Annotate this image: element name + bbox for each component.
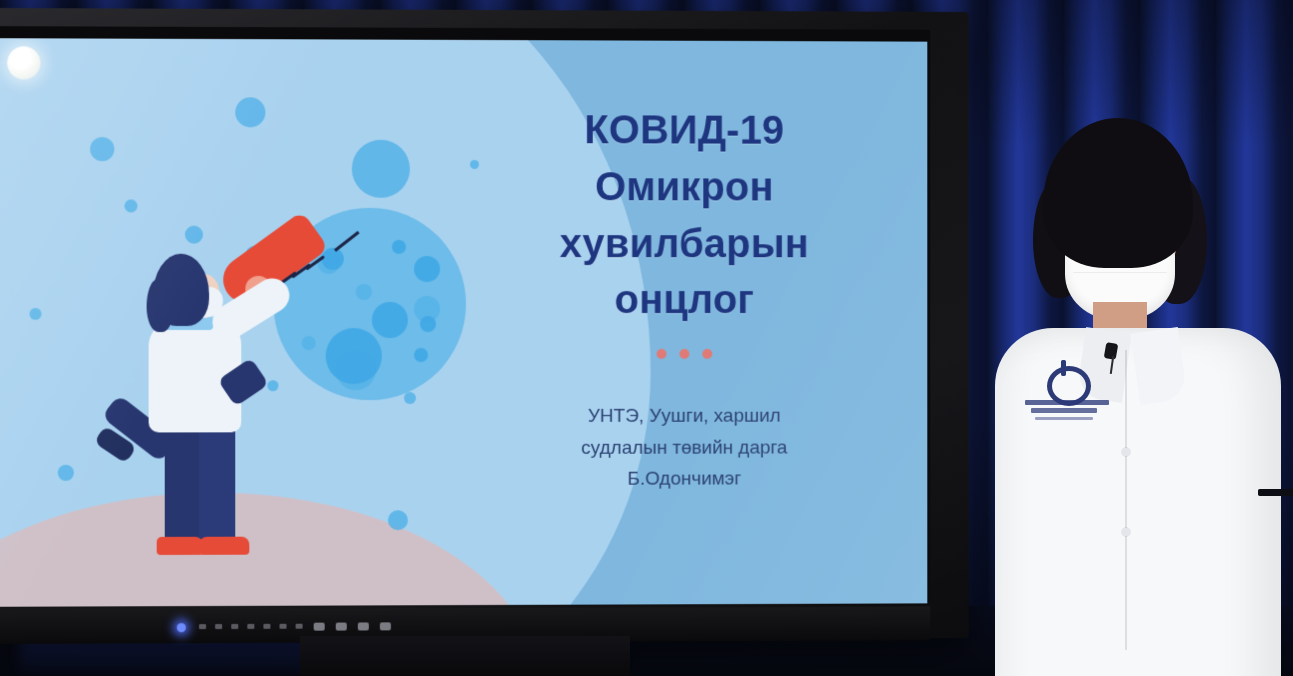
presentation-slide[interactable]: КОВИД-19 Омикрон хувилбарын онцлог УНТЭ,… [0, 38, 927, 607]
figure-hair [153, 254, 209, 326]
subtitle-line-1: УНТЭ, Уушги, харшил [470, 401, 898, 433]
slide-title-line-2: Омикрон [470, 159, 898, 216]
figure-leg-left [165, 424, 199, 543]
volume-down-button[interactable] [358, 622, 369, 630]
display-button[interactable] [247, 624, 254, 629]
bubble [235, 97, 265, 127]
virus-particle [420, 316, 436, 332]
slide-title-line-3: хувилбарын [470, 216, 898, 273]
presentation-display[interactable]: КОВИД-19 Омикрон хувилбарын онцлог УНТЭ,… [0, 8, 969, 642]
bubble [124, 199, 137, 212]
slide-separator-dots [470, 349, 898, 359]
hospital-badge [1025, 366, 1109, 432]
separator-dot [657, 349, 667, 359]
display-button[interactable] [280, 624, 287, 629]
presenter-coat-button [1122, 448, 1130, 456]
bubble [58, 465, 74, 481]
presenter-mask-fold [1073, 272, 1167, 273]
badge-text-line [1025, 400, 1109, 405]
badge-text-line [1031, 408, 1097, 413]
bubble [352, 140, 410, 198]
menu-button[interactable] [314, 623, 325, 631]
power-led-indicator [177, 623, 186, 632]
virus-particle [414, 256, 440, 282]
video-frame: КОВИД-19 Омикрон хувилбарын онцлог УНТЭ,… [0, 0, 1293, 676]
presenter-hair [1043, 118, 1193, 268]
presenter-coat-button [1122, 528, 1130, 536]
display-button[interactable] [199, 624, 206, 629]
badge-text-line [1035, 417, 1093, 420]
slide-title-line-1: КОВИД-19 [470, 102, 898, 160]
presenter-coat-placket [1125, 350, 1127, 650]
slide-text-block: КОВИД-19 Омикрон хувилбарын онцлог УНТЭ,… [470, 102, 898, 495]
display-control-buttons[interactable] [314, 622, 391, 630]
slide-subtitle: УНТЭ, Уушги, харшил судлалын төвийн дарг… [470, 401, 898, 495]
display-button[interactable] [231, 624, 238, 629]
separator-dot [679, 349, 689, 359]
display-button[interactable] [215, 624, 222, 629]
virus-particle [326, 328, 382, 384]
figure-shoe-left [157, 537, 203, 555]
bubble [29, 308, 41, 320]
virus-particle [372, 302, 408, 338]
figure-leg-right [199, 424, 235, 542]
subtitle-line-2: судлалын төвийн дарга [470, 432, 898, 464]
separator-dot [702, 349, 712, 359]
foreground-bar [1258, 489, 1293, 496]
display-front-buttons[interactable] [199, 624, 303, 629]
virus-particle [414, 348, 428, 362]
screen-glare [7, 46, 40, 79]
display-stand [300, 636, 630, 676]
virus-particle [392, 240, 406, 254]
display-button[interactable] [296, 624, 303, 629]
badge-emblem-mark [1061, 360, 1066, 376]
volume-up-button[interactable] [380, 622, 391, 630]
display-button[interactable] [263, 624, 270, 629]
source-button[interactable] [336, 623, 347, 631]
slide-title-line-4: онцлог [470, 272, 898, 329]
bubble [388, 510, 408, 530]
subtitle-line-3: Б.Одончимэг [470, 463, 898, 495]
presenter [985, 118, 1285, 676]
figure-shoe-right [199, 537, 249, 555]
vaccination-illustration [94, 236, 326, 588]
bubble [90, 137, 114, 161]
